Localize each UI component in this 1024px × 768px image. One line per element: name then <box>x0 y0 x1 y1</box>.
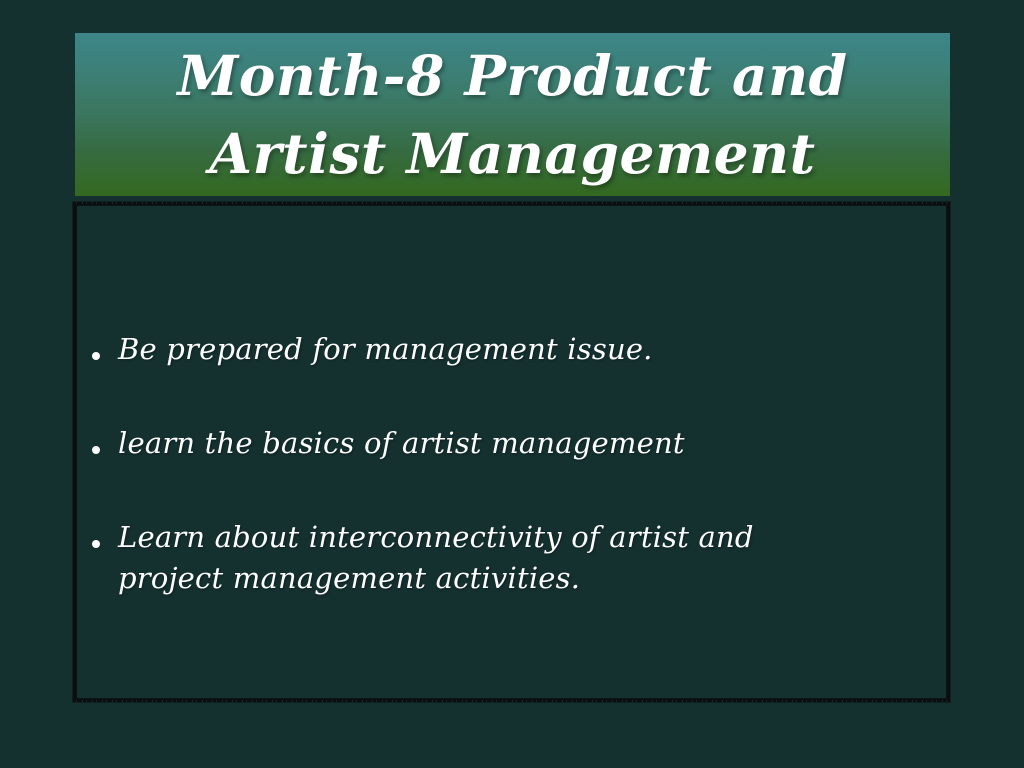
slide-content-box: Be prepared for management issue. learn … <box>73 202 950 702</box>
bullet-dot-icon <box>92 343 118 363</box>
slide-title-banner: Month-8 Product and Artist Management <box>75 33 950 196</box>
bullet-text: Be prepared for management issue. <box>118 329 818 370</box>
bullet-list: Be prepared for management issue. learn … <box>76 205 947 652</box>
bullet-text: Learn about interconnectivity of artist … <box>118 517 838 599</box>
slide-canvas: Month-8 Product and Artist Management Be… <box>0 0 1024 768</box>
bullet-dot-icon <box>92 531 118 551</box>
page-title: Month-8 Product and Artist Management <box>75 37 950 193</box>
bullet-text: learn the basics of artist management <box>118 423 818 464</box>
list-item: learn the basics of artist management <box>92 423 917 464</box>
list-item: Learn about interconnectivity of artist … <box>92 517 917 599</box>
list-item: Be prepared for management issue. <box>92 329 917 370</box>
bullet-dot-icon <box>92 437 118 457</box>
